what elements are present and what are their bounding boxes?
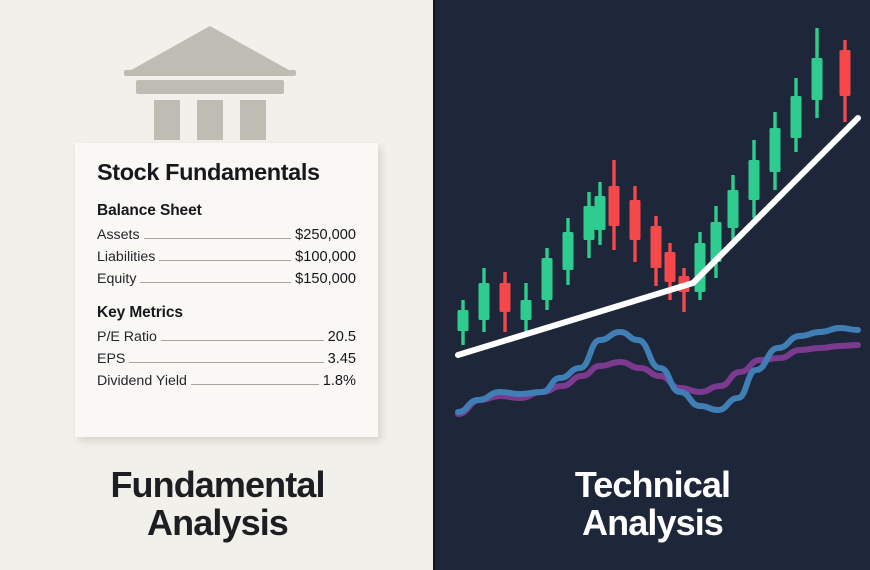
candle-body [595, 196, 606, 230]
card-title: Stock Fundamentals [97, 160, 356, 186]
metric-row-assets: Assets $250,000 [97, 227, 356, 243]
candle-body [609, 186, 620, 226]
fundamental-analysis-panel: Stock Fundamentals Balance Sheet Assets … [0, 0, 435, 570]
candle-body [500, 283, 511, 312]
candle-body [584, 206, 595, 240]
metric-label: Equity [97, 271, 136, 287]
metric-value: 3.45 [328, 351, 356, 367]
candle-body [749, 160, 760, 200]
section-heading-key-metrics: Key Metrics [97, 304, 356, 322]
leader-line [191, 383, 319, 385]
comparison-infographic: Stock Fundamentals Balance Sheet Assets … [0, 0, 870, 570]
leader-line [161, 339, 324, 341]
metric-value: 20.5 [328, 329, 356, 345]
caption-line-2: Analysis [435, 504, 870, 542]
candle-body [630, 200, 641, 240]
fundamental-analysis-caption: Fundamental Analysis [0, 466, 435, 542]
candle-body [479, 283, 490, 320]
candle-body [665, 252, 676, 282]
technical-analysis-panel: Technical Analysis [435, 0, 870, 570]
leader-line [129, 361, 323, 363]
metric-row-equity: Equity $150,000 [97, 271, 356, 287]
candle-body [651, 226, 662, 268]
metric-row-pe-ratio: P/E Ratio 20.5 [97, 329, 356, 345]
caption-line-1: Technical [435, 466, 870, 504]
bank-building-icon [120, 22, 300, 140]
candle-body [563, 232, 574, 270]
candle-body [521, 300, 532, 320]
metric-label: Liabilities [97, 249, 155, 265]
leader-line [140, 281, 291, 283]
metric-row-eps: EPS 3.45 [97, 351, 356, 367]
metric-value: 1.8% [323, 373, 356, 389]
metric-row-dividend-yield: Dividend Yield 1.8% [97, 373, 356, 389]
caption-line-1: Fundamental [0, 466, 435, 504]
panel-divider [433, 0, 435, 570]
stock-fundamentals-card: Stock Fundamentals Balance Sheet Assets … [75, 143, 378, 437]
candle-body [728, 190, 739, 228]
candle-body [542, 258, 553, 300]
leader-line [159, 259, 291, 261]
metric-label: Assets [97, 227, 140, 243]
section-heading-balance-sheet: Balance Sheet [97, 202, 356, 220]
metric-row-liabilities: Liabilities $100,000 [97, 249, 356, 265]
indicator-line-purple [458, 345, 858, 414]
metric-label: EPS [97, 351, 125, 367]
caption-line-2: Analysis [0, 504, 435, 542]
metric-label: Dividend Yield [97, 373, 187, 389]
candle-body [770, 128, 781, 172]
candle-body [695, 243, 706, 292]
metric-value: $150,000 [295, 271, 356, 287]
metric-value: $250,000 [295, 227, 356, 243]
candle-body [791, 96, 802, 138]
leader-line [144, 237, 292, 239]
technical-analysis-caption: Technical Analysis [435, 466, 870, 542]
candle-body [840, 50, 851, 96]
metric-value: $100,000 [295, 249, 356, 265]
metric-label: P/E Ratio [97, 329, 157, 345]
candle-body [458, 310, 469, 331]
candle-body [812, 58, 823, 100]
